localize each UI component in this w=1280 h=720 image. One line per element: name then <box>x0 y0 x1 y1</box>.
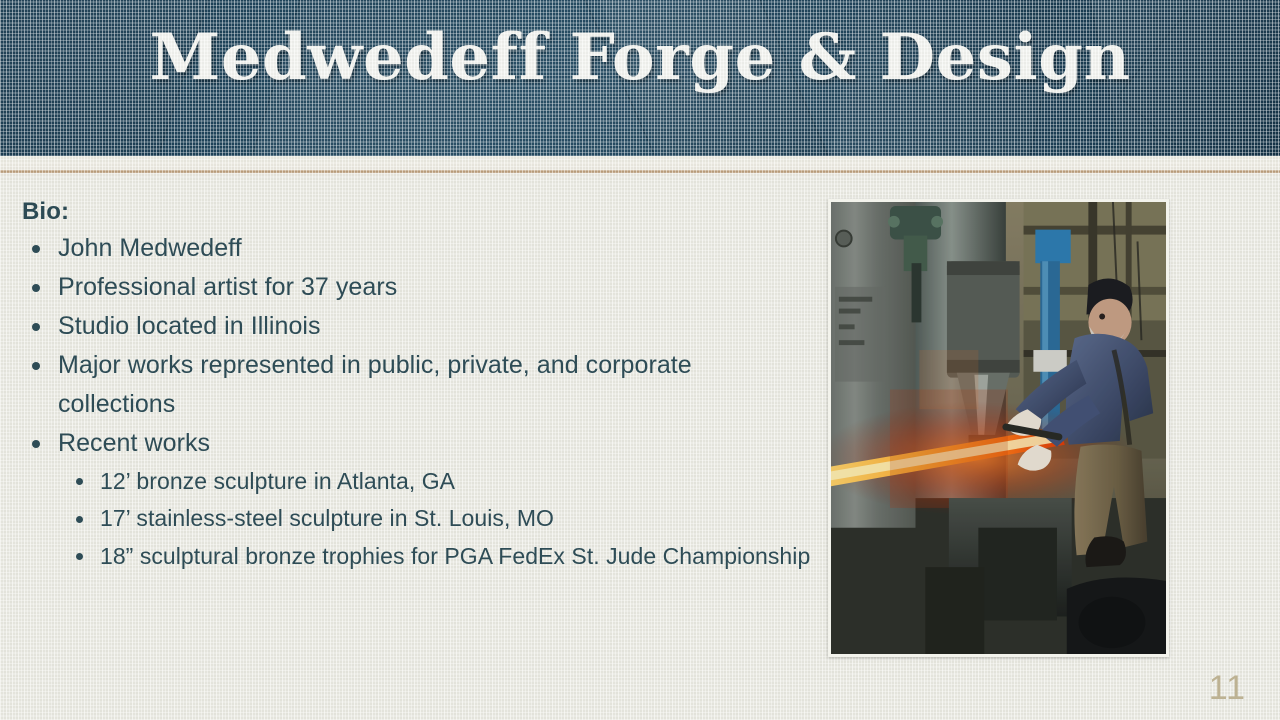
sub-list-item: 18” sculptural bronze trophies for PGA F… <box>58 538 812 575</box>
bio-heading: Bio: <box>22 196 812 227</box>
bullet-dot-icon <box>76 553 83 560</box>
slide-title: Medwedeff Forge & Design <box>0 26 1280 90</box>
list-item: John Medwedeff <box>22 229 812 268</box>
slide: Medwedeff Forge & Design Bio: John Medwe… <box>0 0 1280 720</box>
title-banner: Medwedeff Forge & Design <box>0 0 1280 156</box>
list-item: Professional artist for 37 years <box>22 268 812 307</box>
bullet-text: Major works represented in public, priva… <box>58 346 812 424</box>
slide-number: 11 <box>1209 669 1246 708</box>
bullet-text: Recent works <box>58 424 812 463</box>
bullet-dot-icon <box>32 362 40 370</box>
list-item: Recent works 12’ bronze sculpture in Atl… <box>22 424 812 575</box>
sub-bullet-text: 17’ stainless-steel sculpture in St. Lou… <box>100 505 554 531</box>
list-item: Studio located in Illinois <box>22 307 812 346</box>
banner-cream-strip <box>0 156 1280 176</box>
banner-accent-rule <box>0 170 1280 173</box>
sub-bullet-text: 12’ bronze sculpture in Atlanta, GA <box>100 468 455 494</box>
sub-bullet-text: 18” sculptural bronze trophies for PGA F… <box>100 543 810 569</box>
sub-list-item: 12’ bronze sculpture in Atlanta, GA <box>58 463 812 500</box>
sub-list-item: 17’ stainless-steel sculpture in St. Lou… <box>58 500 812 537</box>
bullet-text: John Medwedeff <box>58 229 812 268</box>
bullet-dot-icon <box>32 440 40 448</box>
bullet-dot-icon <box>76 478 83 485</box>
bullet-text: Professional artist for 37 years <box>58 268 812 307</box>
bullet-list: John Medwedeff Professional artist for 3… <box>22 229 812 575</box>
sub-bullet-list: 12’ bronze sculpture in Atlanta, GA 17’ … <box>58 463 812 575</box>
bullet-dot-icon <box>76 516 83 523</box>
content-body: Bio: John Medwedeff Professional artist … <box>22 196 812 575</box>
photo-frame <box>828 199 1169 657</box>
forge-photo <box>831 202 1166 654</box>
bullet-dot-icon <box>32 323 40 331</box>
bullet-dot-icon <box>32 284 40 292</box>
bullet-dot-icon <box>32 245 40 253</box>
list-item: Major works represented in public, priva… <box>22 346 812 424</box>
bullet-text: Studio located in Illinois <box>58 307 812 346</box>
